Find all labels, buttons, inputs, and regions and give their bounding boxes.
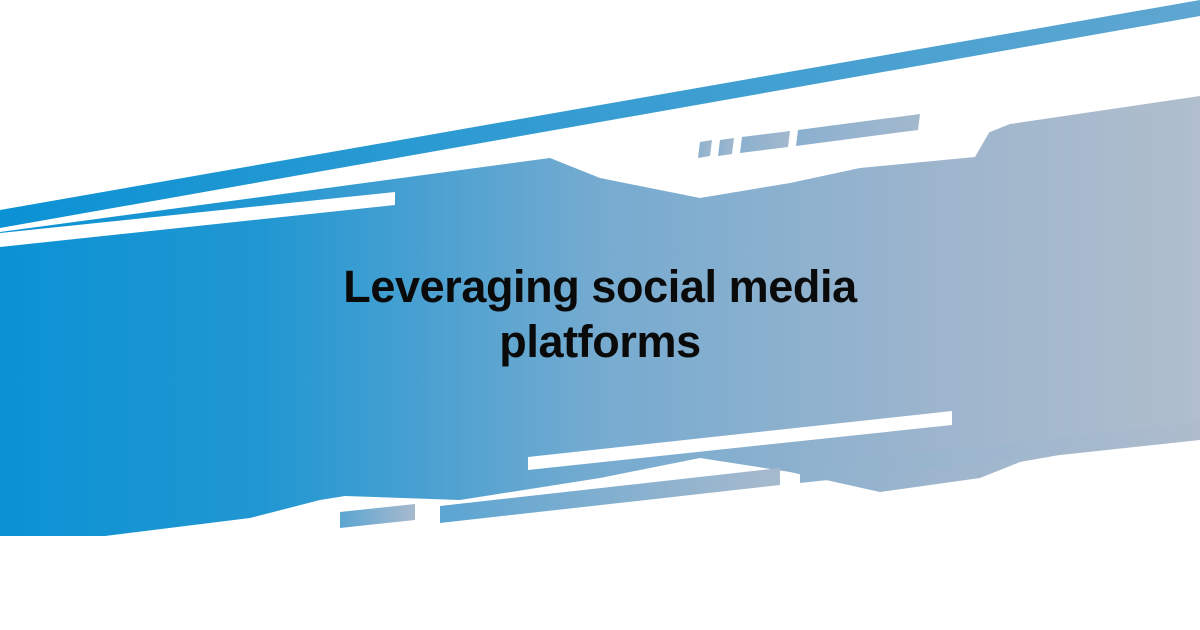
decorative-background-art — [0, 0, 1200, 630]
top-dash-1 — [698, 140, 712, 158]
banner-graphic: Leveraging social media platforms — [0, 0, 1200, 630]
top-dash-2 — [718, 138, 734, 156]
